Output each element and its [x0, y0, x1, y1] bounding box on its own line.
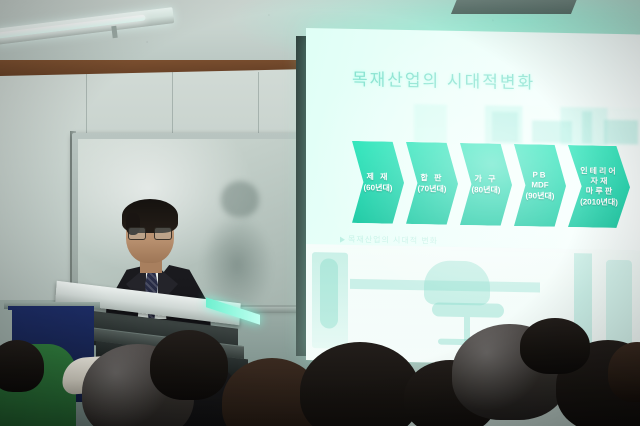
chevron-year: (70년대) — [418, 184, 447, 195]
audience-head — [300, 342, 420, 426]
chevron-step-2: 합 판 (70년대) — [406, 142, 458, 225]
chevron-year: (60년대) — [364, 183, 393, 194]
chevron-label-2: MDF — [531, 180, 548, 190]
chevron-step-4: PB MDF (90년대) — [514, 144, 566, 227]
photo-strip-block — [532, 120, 572, 143]
chevron-step-5: 인테리어 자 재 마 루 판 (2010년대) — [568, 145, 630, 228]
chevron-label: 인테리어 — [580, 166, 617, 177]
chevron-label: 제 재 — [367, 172, 390, 182]
slide-caption-text: 목재산업의 시대적 변화 — [348, 235, 438, 246]
chevron-year: (90년대) — [526, 191, 555, 202]
photo-chair-back — [424, 260, 490, 305]
presentation-photo: 목재산업의 시대적변화 제 재 (60년대) 합 판 (70년대) 가 구 (8… — [0, 0, 640, 426]
chevron-label-2: 자 재 — [591, 176, 608, 186]
chevron-label-3: 마 루 판 — [586, 186, 613, 197]
chevron-label: PB — [532, 170, 547, 180]
ceiling-vent — [451, 0, 579, 14]
chevron-label: 합 판 — [421, 173, 444, 183]
chevron-timeline: 제 재 (60년대) 합 판 (70년대) 가 구 (80년대) PB MDF … — [352, 141, 632, 228]
chevron-year: (2010년대) — [580, 197, 618, 208]
photo-strip-block — [582, 111, 592, 143]
photo-strip-block — [604, 120, 638, 145]
photo-strip-block — [492, 112, 518, 142]
glasses-lens-right — [154, 227, 172, 240]
triangle-bullet-icon — [340, 237, 345, 243]
slide-photo-strip — [414, 104, 640, 147]
chevron-step-1: 제 재 (60년대) — [352, 141, 404, 224]
glasses-icon — [128, 227, 172, 238]
glasses-lens-left — [128, 227, 146, 240]
audience — [0, 300, 640, 426]
audience-head — [520, 318, 590, 374]
audience-head — [150, 330, 228, 400]
chevron-label: 가 구 — [475, 174, 498, 184]
slide-title: 목재산업의 시대적변화 — [352, 65, 535, 94]
chevron-step-3: 가 구 (80년대) — [460, 143, 512, 226]
glasses-bridge — [145, 232, 155, 233]
chevron-year: (80년대) — [472, 185, 501, 196]
